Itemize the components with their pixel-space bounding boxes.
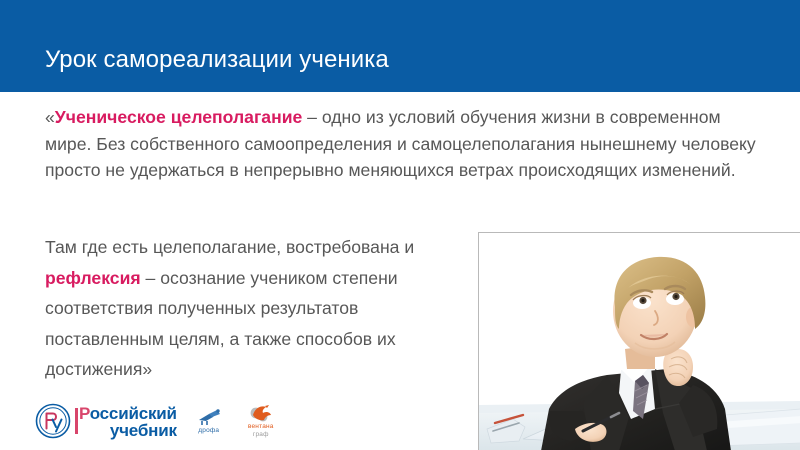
paragraph-two: Там где есть целеполагание, востребована… [45,232,470,385]
logo-divider-bar [75,408,78,434]
open-quote: « [45,107,55,127]
ventana-graf-icon [248,404,274,422]
student-photo [478,232,800,450]
page-title: Урок самореализации ученика [45,45,389,75]
highlight-goal-setting: Ученическое целеполагание [55,107,303,127]
monogram-icon [33,401,73,441]
student-photo-image [479,233,800,450]
brand-logo: Российский учебник дрофа вентана граф [33,398,281,444]
logo-wordmark-line-2: учебник [79,422,177,439]
drofa-bird-icon [196,408,222,426]
highlight-reflection: рефлексия [45,268,141,288]
partner-caption-graf: граф [241,431,281,439]
header-banner: Урок самореализации ученика [0,0,800,92]
partner-logo-ventana-graf: вентана граф [241,404,281,439]
paragraph-one: «Ученическое целеполагание – одно из усл… [45,104,760,184]
partner-caption-drofa: дрофа [189,427,229,435]
logo-lead-letter: Р [79,404,90,423]
slide-canvas: Урок самореализации ученика [0,0,800,450]
logo-wordmark: Российский учебник [79,405,177,439]
paragraph-two-before: Там где есть целеполагание, востребована… [45,237,414,257]
partner-logo-drofa: дрофа [189,408,229,435]
logo-wordmark-line-1: Российский [79,405,177,422]
partner-caption-ventana: вентана [241,423,281,431]
